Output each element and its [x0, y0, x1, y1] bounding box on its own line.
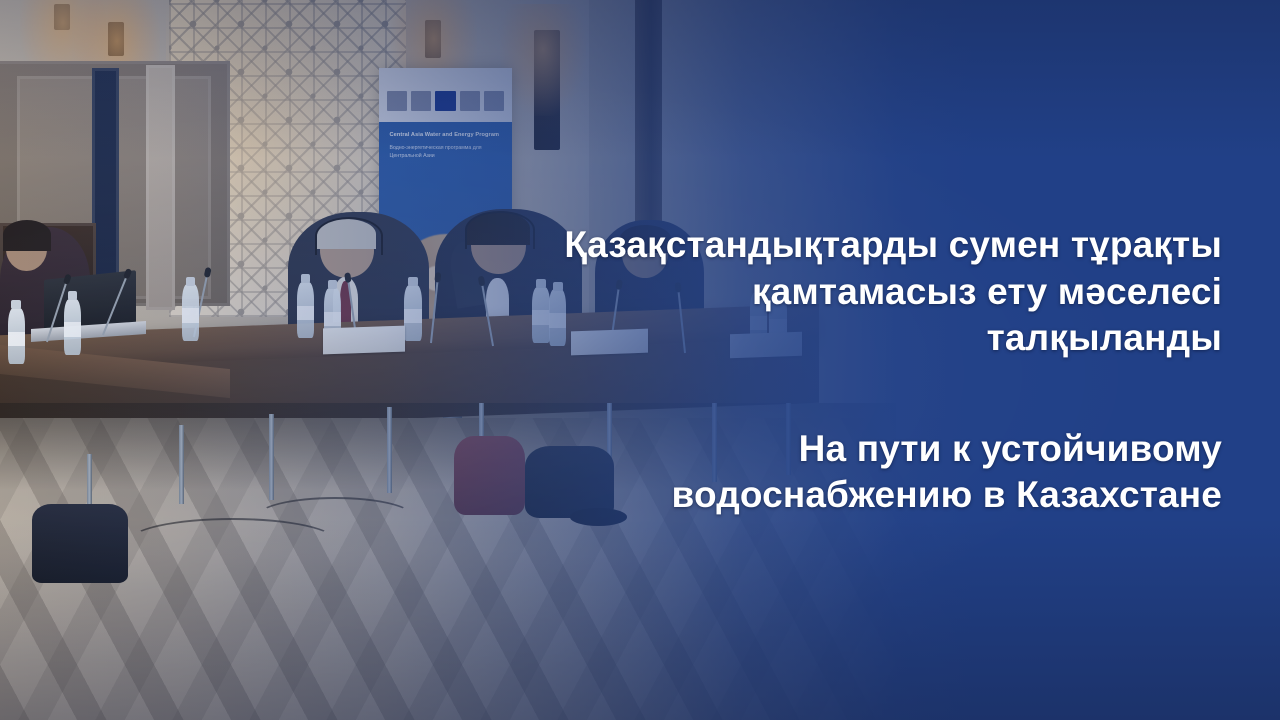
water-bottle — [182, 284, 199, 340]
partner-logo-icon — [484, 91, 504, 111]
headline-group: Қазақстандықтарды сумен тұрақты қамтамас… — [522, 222, 1222, 519]
wall-pilaster — [146, 65, 175, 310]
partner-logo-icon — [460, 91, 480, 111]
banner-title-en: Central Asia Water and Energy Program — [390, 132, 502, 140]
water-bottle — [8, 308, 25, 364]
cawep-logo-icon — [387, 91, 407, 111]
table-leg — [179, 425, 184, 504]
floor-cable — [256, 497, 414, 537]
name-card — [323, 325, 405, 354]
door-gap — [92, 68, 119, 306]
wall-sconce-icon — [534, 30, 560, 150]
water-bottle — [404, 285, 421, 341]
headset-icon — [315, 217, 383, 255]
banner-logo-row — [387, 85, 504, 117]
table-leg — [269, 414, 274, 500]
water-bottle — [64, 299, 81, 355]
wall-sconce-icon — [425, 20, 441, 58]
bag-under-table — [454, 436, 524, 515]
banner-image: Central Asia Water and Energy Program Во… — [0, 0, 1280, 720]
headline-russian: На пути к устойчивому водоснабжению в Ка… — [522, 426, 1222, 519]
eu-flag-icon — [435, 91, 455, 111]
table-leg — [387, 407, 392, 493]
banner-title-ru: Водно-энергетическая программа для Центр… — [390, 145, 502, 160]
wall-sconce-icon — [54, 4, 70, 30]
wall-sconce-icon — [108, 22, 124, 56]
bag-under-table — [32, 504, 128, 583]
participant-left-hair — [3, 220, 52, 250]
water-bottle — [297, 282, 314, 338]
partner-logo-icon — [411, 91, 431, 111]
headline-kazakh: Қазақстандықтарды сумен тұрақты қамтамас… — [522, 222, 1222, 362]
